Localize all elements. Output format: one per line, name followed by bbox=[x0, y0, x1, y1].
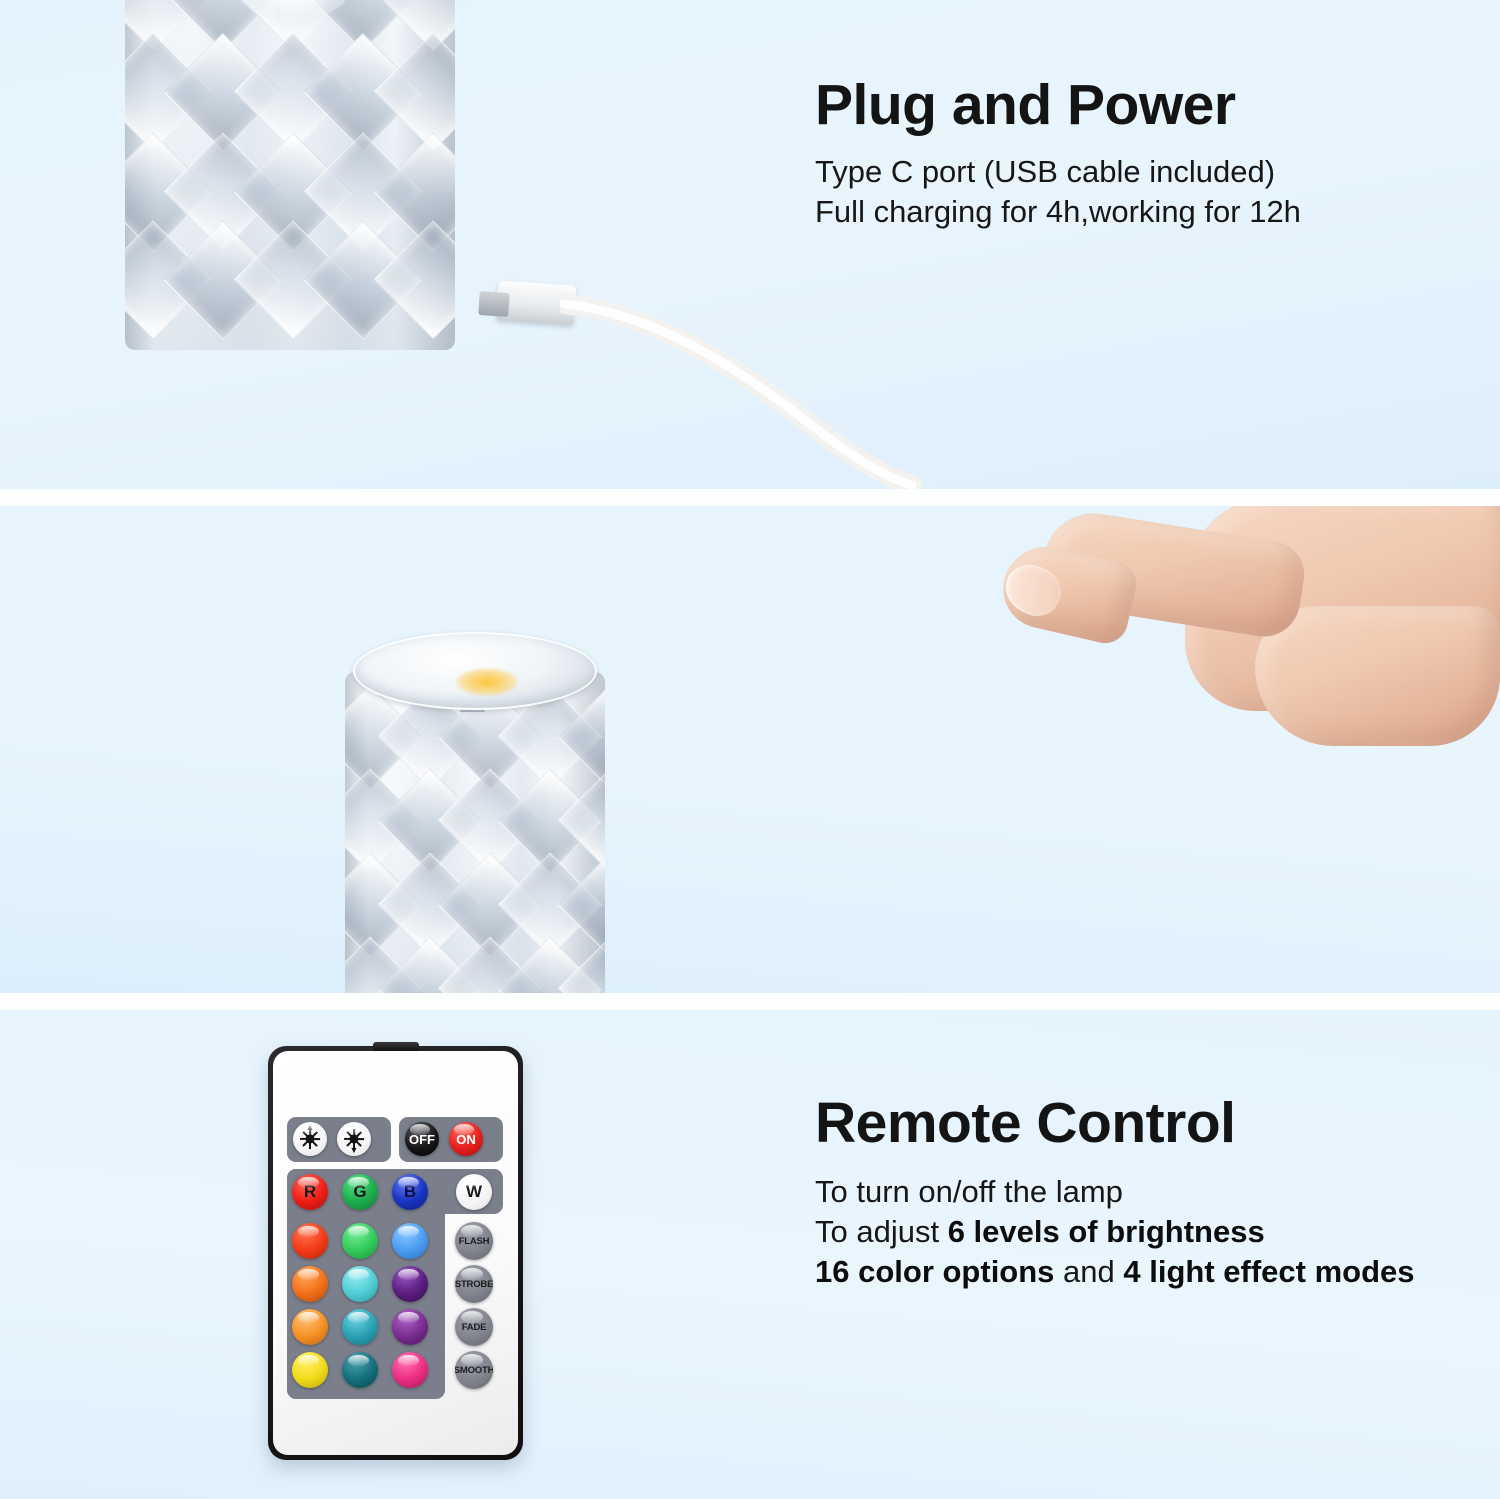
lamp-body-touch bbox=[345, 672, 605, 993]
plug-line-1: Type C port (USB cable included) bbox=[815, 152, 1301, 192]
ir-emitter bbox=[373, 1042, 419, 1051]
remote-headline: Remote Control bbox=[815, 1094, 1414, 1154]
color-purple-button[interactable] bbox=[392, 1309, 428, 1345]
remote-line3-bold-a: 16 color options bbox=[815, 1254, 1054, 1289]
power-on-button[interactable]: ON bbox=[449, 1122, 483, 1156]
remote-line3-bold-b: 4 light effect modes bbox=[1123, 1254, 1414, 1289]
brightness-up-button[interactable]: ▲ bbox=[293, 1122, 327, 1156]
touch-indicator-glow bbox=[456, 668, 518, 696]
color-dark-teal-button[interactable] bbox=[342, 1352, 378, 1388]
section-remote-control: Remote Control To turn on/off the lamp T… bbox=[0, 1010, 1500, 1499]
remote-line3-mid: and bbox=[1054, 1254, 1123, 1289]
remote-text-block: Remote Control To turn on/off the lamp T… bbox=[815, 1094, 1414, 1293]
brightness-down-button[interactable]: ▼ bbox=[337, 1122, 371, 1156]
color-green-button[interactable]: G bbox=[342, 1174, 378, 1210]
lamp-touch-surface[interactable] bbox=[353, 632, 597, 710]
color-red-orange-button[interactable] bbox=[292, 1223, 328, 1259]
plug-line-2: Full charging for 4h,working for 12h bbox=[815, 192, 1301, 232]
color-orange-button[interactable] bbox=[292, 1266, 328, 1302]
color-light-green-button[interactable] bbox=[342, 1223, 378, 1259]
remote-line-2: To adjust 6 levels of brightness bbox=[815, 1212, 1414, 1252]
color-light-orange-button[interactable] bbox=[292, 1309, 328, 1345]
remote-line2-pre: To adjust bbox=[815, 1214, 948, 1249]
mode-fade-button[interactable]: FADE bbox=[455, 1308, 493, 1346]
power-off-button[interactable]: OFF bbox=[405, 1122, 439, 1156]
color-yellow-button[interactable] bbox=[292, 1352, 328, 1388]
color-pink-button[interactable] bbox=[392, 1352, 428, 1388]
lamp-facets-touch bbox=[345, 672, 605, 993]
arrow-down-glyph: ▼ bbox=[350, 1146, 359, 1155]
remote-line-1: To turn on/off the lamp bbox=[815, 1172, 1414, 1212]
remote-line-3: 16 color options and 4 light effect mode… bbox=[815, 1252, 1414, 1292]
crystal-lamp-touch-image bbox=[345, 626, 605, 993]
color-dark-purple-button[interactable] bbox=[392, 1266, 428, 1302]
mode-strobe-button[interactable]: STROBE bbox=[455, 1265, 493, 1303]
mode-smooth-button[interactable]: SMOOTH bbox=[455, 1351, 493, 1389]
section-plug-and-power: Plug and Power Type C port (USB cable in… bbox=[0, 0, 1500, 489]
color-light-blue-button[interactable] bbox=[392, 1223, 428, 1259]
remote-faceplate: ▲ ▼ OFF ON bbox=[273, 1051, 518, 1455]
color-white-button[interactable]: W bbox=[456, 1174, 492, 1210]
product-infographic: Plug and Power Type C port (USB cable in… bbox=[0, 0, 1500, 1499]
color-cyan-button[interactable] bbox=[342, 1266, 378, 1302]
usb-connector-tip bbox=[478, 291, 510, 317]
section-divider-1 bbox=[0, 489, 1500, 506]
color-red-button[interactable]: R bbox=[292, 1174, 328, 1210]
mode-flash-button[interactable]: FLASH bbox=[455, 1222, 493, 1260]
arrow-up-glyph: ▲ bbox=[306, 1123, 315, 1132]
lamp-body bbox=[125, 0, 455, 350]
lamp-facets bbox=[125, 0, 455, 350]
thumb bbox=[1255, 606, 1500, 746]
section-divider-2 bbox=[0, 993, 1500, 1010]
sun-down-icon: ▼ bbox=[343, 1128, 365, 1150]
hand-pressing-image bbox=[955, 506, 1500, 826]
usb-cable bbox=[560, 280, 960, 489]
plug-text-block: Plug and Power Type C port (USB cable in… bbox=[815, 76, 1301, 232]
crystal-lamp-image bbox=[125, 0, 455, 350]
remote-line2-bold: 6 levels of brightness bbox=[948, 1214, 1265, 1249]
plug-headline: Plug and Power bbox=[815, 76, 1301, 136]
color-blue-button[interactable]: B bbox=[392, 1174, 428, 1210]
section-simple-click: Simple Click The 1st click to set gradie… bbox=[0, 506, 1500, 993]
remote-control-device[interactable]: ▲ ▼ OFF ON bbox=[268, 1046, 523, 1460]
sun-up-icon: ▲ bbox=[299, 1128, 321, 1150]
color-teal-button[interactable] bbox=[342, 1309, 378, 1345]
